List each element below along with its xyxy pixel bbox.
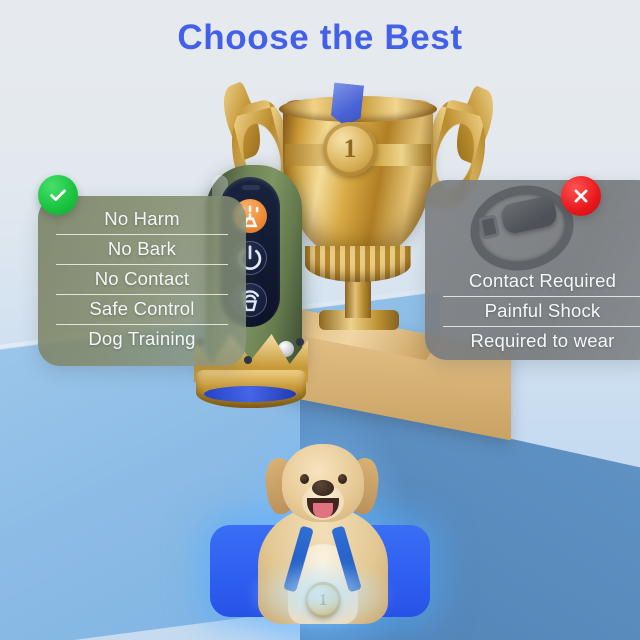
list-item: Painful Shock [425, 296, 640, 326]
dog-eye-left [300, 474, 309, 484]
device-speaker-slot [242, 185, 260, 190]
pros-panel: No Harm No Bark No Contact Safe Control … [38, 196, 246, 366]
crown-dot [244, 356, 252, 364]
list-item: Safe Control [38, 294, 246, 324]
pros-list: No Harm No Bark No Contact Safe Control … [38, 204, 246, 354]
list-item: Dog Training [38, 324, 246, 354]
list-item: Required to wear [425, 326, 640, 356]
product-comparison-image: Choose the Best 1 [0, 0, 640, 640]
pedestal-glow [246, 560, 396, 630]
list-item: No Bark [38, 234, 246, 264]
dog-tongue [313, 503, 333, 518]
list-item: No Contact [38, 264, 246, 294]
cross-icon [561, 176, 601, 216]
dog-nose [312, 480, 334, 496]
crown-dot [296, 338, 304, 346]
check-icon [38, 175, 78, 215]
page-title: Choose the Best [0, 18, 640, 58]
cons-list: Contact Required Painful Shock Required … [425, 266, 640, 356]
crown-jewel [204, 386, 296, 402]
trophy-flute [305, 246, 411, 282]
dog-eye-right [338, 474, 347, 484]
trophy-medal: 1 [323, 122, 377, 176]
